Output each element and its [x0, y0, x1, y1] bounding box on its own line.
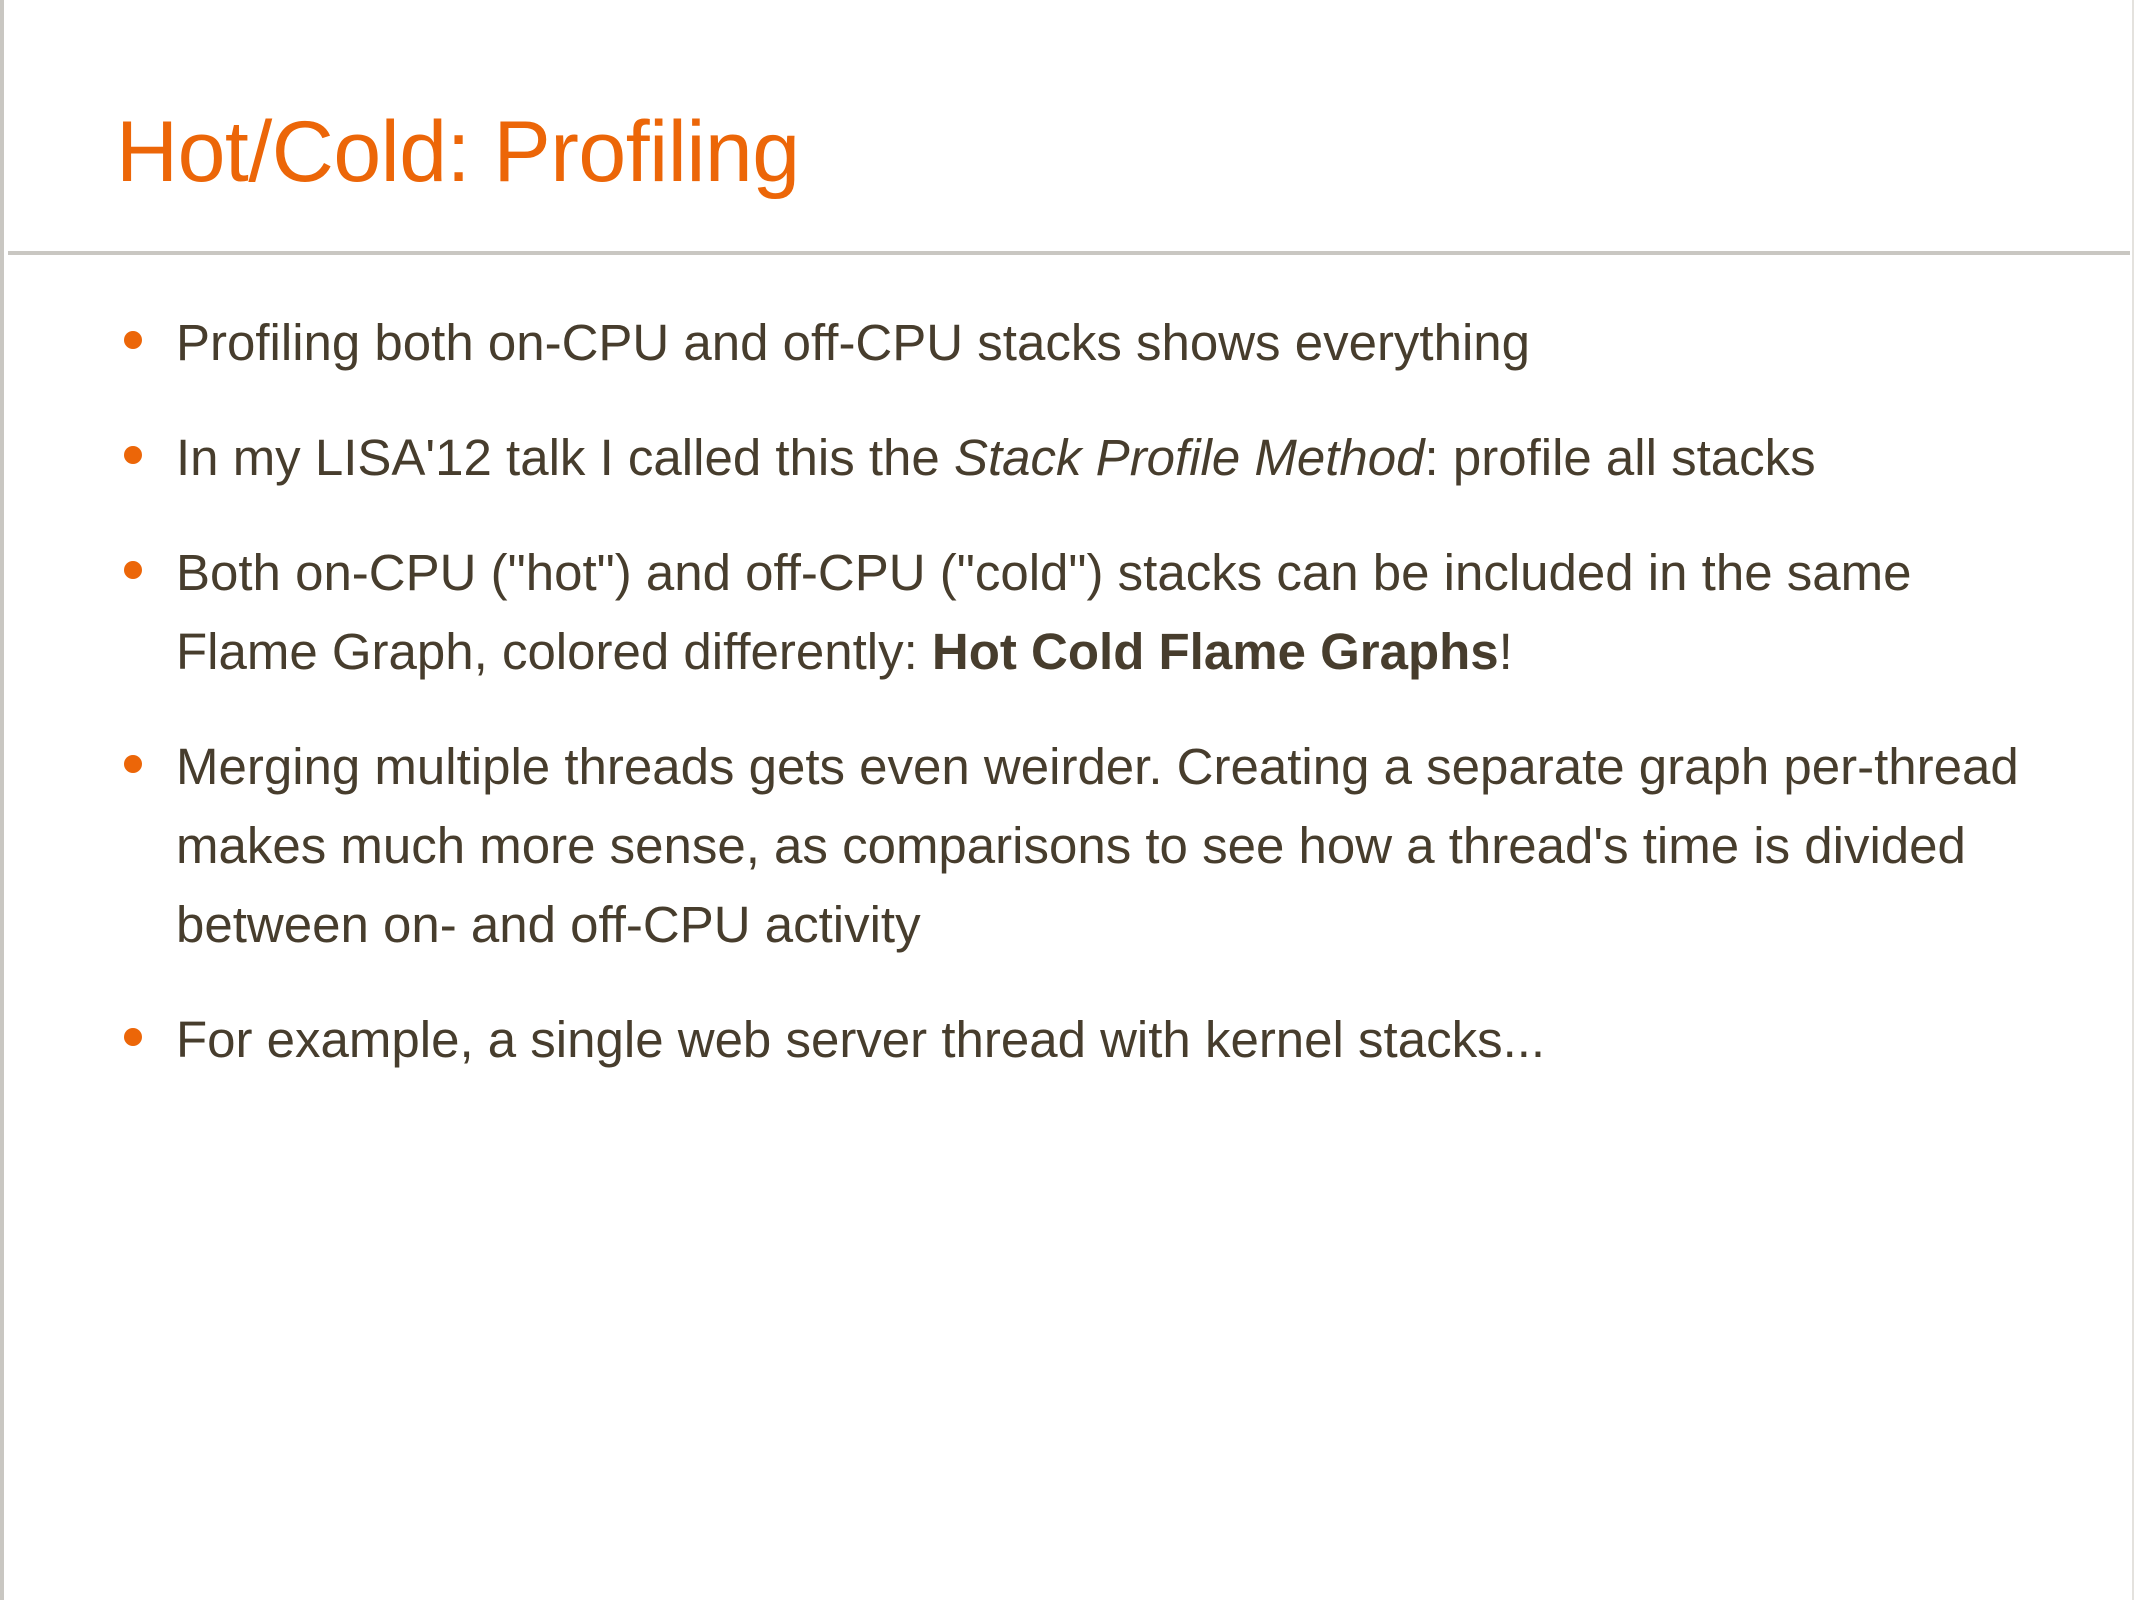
bullet-text: Profiling both on-CPU and off-CPU stacks… [176, 303, 2046, 382]
bullet-dot-icon [124, 1028, 142, 1046]
bullet-dot-icon [124, 561, 142, 579]
bullet-list: Profiling both on-CPU and off-CPU stacks… [116, 303, 2072, 1079]
bullet-item: Merging multiple threads gets even weird… [116, 727, 2046, 964]
bullet-dot-icon [124, 755, 142, 773]
bullet-item: In my LISA'12 talk I called this the Sta… [116, 418, 2046, 497]
bullet-text: In my LISA'12 talk I called this the Sta… [176, 418, 2046, 497]
plain-text: Merging multiple threads gets even weird… [176, 738, 2019, 953]
bullet-text: Merging multiple threads gets even weird… [176, 727, 2046, 964]
plain-text: In my LISA'12 talk I called this the [176, 429, 954, 486]
bullet-text: Both on-CPU ("hot") and off-CPU ("cold")… [176, 533, 2046, 691]
presentation-slide: Hot/Cold: Profiling Profiling both on-CP… [0, 0, 2134, 1600]
bullet-item: For example, a single web server thread … [116, 1000, 2046, 1079]
bullet-text: For example, a single web server thread … [176, 1000, 2046, 1079]
slide-body: Profiling both on-CPU and off-CPU stacks… [4, 255, 2132, 1600]
plain-text: : profile all stacks [1425, 429, 1816, 486]
emphasis-text: Stack Profile Method [954, 429, 1425, 486]
slide-title-area: Hot/Cold: Profiling [4, 0, 2132, 252]
page-title: Hot/Cold: Profiling [116, 104, 800, 200]
plain-text: Profiling both on-CPU and off-CPU stacks… [176, 314, 1530, 371]
strong-text: Hot Cold Flame Graphs [932, 623, 1499, 680]
bullet-item: Both on-CPU ("hot") and off-CPU ("cold")… [116, 533, 2046, 691]
bullet-dot-icon [124, 331, 142, 349]
plain-text: ! [1499, 623, 1513, 680]
bullet-dot-icon [124, 446, 142, 464]
bullet-item: Profiling both on-CPU and off-CPU stacks… [116, 303, 2046, 382]
plain-text: For example, a single web server thread … [176, 1011, 1545, 1068]
